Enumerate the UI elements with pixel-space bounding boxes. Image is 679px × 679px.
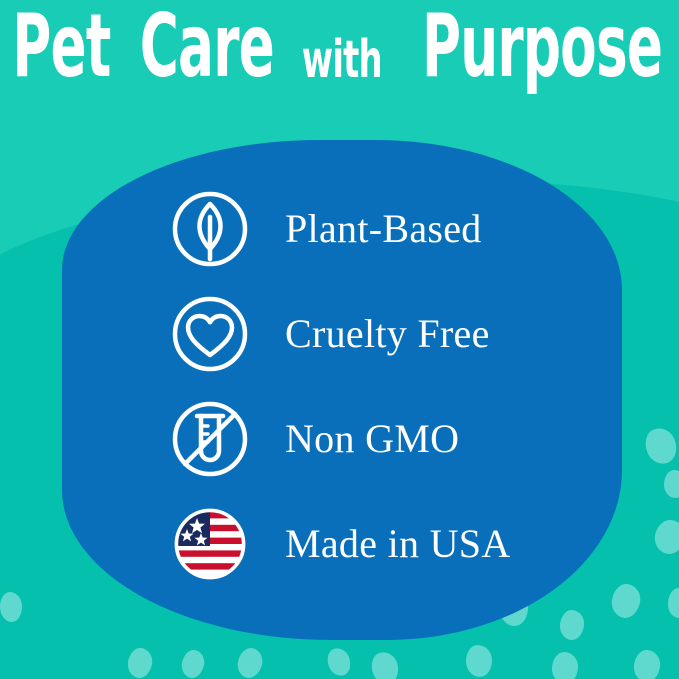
poster-canvas: PetCarewithPurpose® Plant-Based: [0, 0, 679, 679]
background-dot: [324, 645, 354, 679]
page-title: PetCarewithPurpose®: [0, 16, 679, 90]
background-dot: [664, 470, 679, 498]
title-word-purpose: Purpose: [422, 3, 662, 90]
usa-flag-circle-icon: [168, 502, 252, 586]
background-dot: [632, 649, 661, 679]
leaf-in-circle-icon: [168, 187, 252, 271]
title-word-care: Care: [140, 3, 274, 90]
background-dot: [651, 517, 679, 557]
title-word-with: with: [300, 33, 383, 85]
claim-item-plant-based: Plant-Based: [168, 176, 588, 281]
background-dot: [667, 587, 679, 618]
background-dot: [179, 648, 206, 679]
background-dot: [126, 646, 154, 679]
claim-label-plant-based: Plant-Based: [285, 209, 482, 249]
heart-in-circle-icon: [168, 292, 252, 376]
no-test-tube-icon: [168, 397, 252, 481]
background-dot: [559, 609, 586, 641]
background-dot: [551, 652, 578, 679]
claims-list: Plant-Based Cruelty Free: [168, 176, 588, 596]
title-word-pet: Pet: [12, 3, 110, 90]
background-dot: [609, 582, 643, 621]
background-dot: [465, 644, 493, 678]
claim-label-cruelty-free: Cruelty Free: [285, 314, 490, 354]
claim-item-non-gmo: Non GMO: [168, 386, 588, 491]
background-dot: [0, 591, 23, 622]
claim-label-made-in-usa: Made in USA: [285, 524, 511, 564]
claim-item-made-in-usa: Made in USA: [168, 491, 588, 596]
background-dot: [641, 424, 679, 468]
claim-item-cruelty-free: Cruelty Free: [168, 281, 588, 386]
background-dot: [368, 649, 402, 679]
background-dot: [235, 645, 266, 679]
claim-label-non-gmo: Non GMO: [285, 419, 459, 459]
